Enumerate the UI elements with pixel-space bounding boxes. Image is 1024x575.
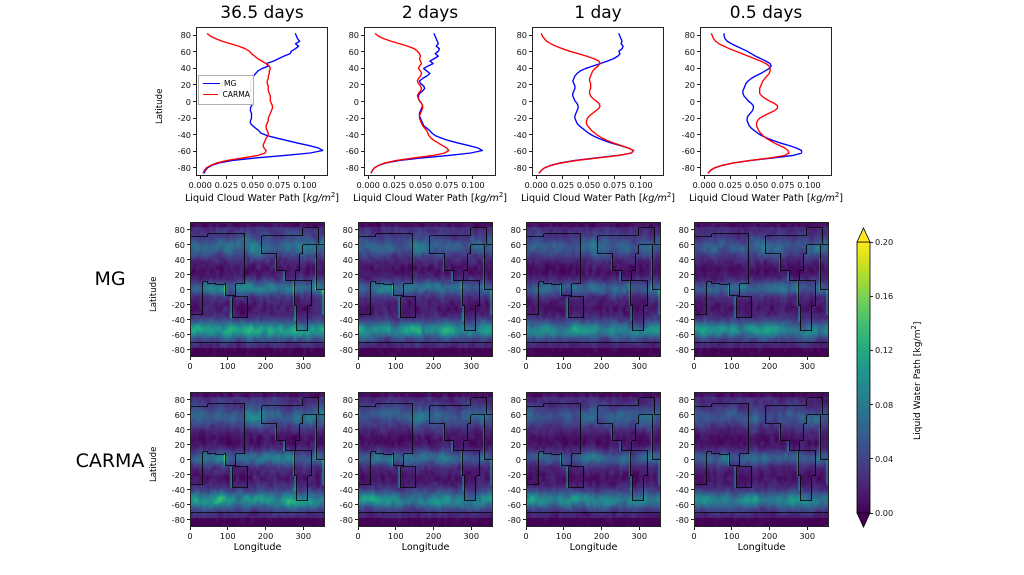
map-ytick-1-1-3 [355, 444, 358, 445]
map-xtick-label-1-2-3: 300 [625, 531, 653, 541]
map-ytick-1-0-0 [187, 399, 190, 400]
colorbar-tick-label-4: 0.16 [875, 291, 905, 301]
map-ytick-label-1-3-1: 60 [667, 410, 689, 420]
map-ytick-label-0-3-3: 20 [667, 270, 689, 280]
column-title-1: 2 days [364, 3, 496, 23]
colorbar-extend-max-arrow [857, 228, 870, 242]
line-ytick-label-3-6: -40 [673, 130, 695, 140]
colorbar-tick-3 [870, 350, 873, 351]
map-yaxis-label-0: Latitude [149, 276, 159, 311]
colorbar-gradient [856, 228, 871, 529]
line-ytick-2-7 [529, 151, 532, 152]
map-ytick-1-3-1 [691, 414, 694, 415]
line-plot-legend[interactable]: MGCARMA [198, 75, 254, 105]
map-xtick-label-0-2-3: 300 [625, 361, 653, 371]
map-ytick-label-0-3-1: 60 [667, 240, 689, 250]
map-ytick-1-1-0 [355, 399, 358, 400]
map-xtick-label-1-0-1: 100 [214, 531, 242, 541]
map-ytick-1-3-2 [691, 429, 694, 430]
colorbar-bar[interactable] [857, 242, 870, 513]
map-ytick-label-1-0-5: -20 [163, 470, 185, 480]
line-ytick-1-0 [361, 35, 364, 36]
colorbar-tick-2 [870, 404, 873, 405]
map-ytick-label-0-1-5: -20 [331, 300, 353, 310]
map-ytick-label-0-2-4: 0 [499, 285, 521, 295]
map-ytick-0-3-8 [691, 349, 694, 350]
map-xtick-label-1-2-2: 200 [588, 531, 616, 541]
line-ytick-0-4 [193, 101, 196, 102]
map-ytick-1-3-3 [691, 444, 694, 445]
map-xtick-0-1-2 [433, 357, 434, 360]
map-ytick-1-2-6 [523, 489, 526, 490]
map-ytick-0-1-6 [355, 319, 358, 320]
map-ytick-label-1-3-2: 40 [667, 425, 689, 435]
map-ytick-0-3-6 [691, 319, 694, 320]
line-xtick-2-2 [588, 176, 589, 179]
colorbar-tick-1 [870, 458, 873, 459]
map-ytick-0-0-4 [187, 289, 190, 290]
line-xaxis-label-1: Liquid Cloud Water Path [kg/m2] [348, 191, 512, 204]
coastline-path [695, 228, 828, 343]
map-xtick-0-3-0 [694, 357, 695, 360]
map-xtick-label-0-1-3: 300 [457, 361, 485, 371]
line-ytick-label-1-5: -20 [337, 113, 359, 123]
line-ytick-1-5 [361, 118, 364, 119]
map-ytick-1-0-4 [187, 459, 190, 460]
map-ytick-label-0-0-4: 0 [163, 285, 185, 295]
legend-entry-mg: MG [201, 78, 250, 89]
line-xtick-label-3-4: 0.100 [793, 180, 825, 190]
map-ytick-0-0-0 [187, 229, 190, 230]
coastline-path [527, 228, 660, 343]
map-ytick-0-1-3 [355, 274, 358, 275]
map-ytick-label-1-3-4: 0 [667, 455, 689, 465]
map-ytick-1-0-6 [187, 489, 190, 490]
map-xtick-0-2-3 [639, 357, 640, 360]
map-ytick-label-1-2-0: 80 [499, 395, 521, 405]
line-plot-panel-2[interactable] [532, 27, 664, 176]
map-panel-mg-col1[interactable] [358, 222, 493, 357]
line-ytick-3-8 [697, 167, 700, 168]
map-xtick-label-0-1-1: 100 [382, 361, 410, 371]
map-panel-carma-col0[interactable] [190, 392, 325, 527]
map-panel-carma-col1[interactable] [358, 392, 493, 527]
map-ytick-1-1-5 [355, 474, 358, 475]
map-xtick-1-1-1 [395, 527, 396, 530]
map-ytick-0-0-5 [187, 304, 190, 305]
map-ytick-label-0-3-8: -80 [667, 345, 689, 355]
map-ytick-label-1-1-6: -40 [331, 485, 353, 495]
line-ytick-3-3 [697, 84, 700, 85]
map-ytick-1-2-7 [523, 504, 526, 505]
map-yaxis-label-1: Latitude [149, 446, 159, 481]
line-ytick-label-0-1: 60 [169, 47, 191, 57]
line-xtick-3-1 [730, 176, 731, 179]
map-xtick-label-0-3-2: 200 [756, 361, 784, 371]
map-ytick-label-0-2-7: -60 [499, 330, 521, 340]
map-xtick-label-0-0-2: 200 [252, 361, 280, 371]
map-ytick-1-0-8 [187, 519, 190, 520]
map-xtick-1-1-3 [471, 527, 472, 530]
map-xtick-label-0-1-2: 200 [420, 361, 448, 371]
map-ytick-0-3-4 [691, 289, 694, 290]
line-ytick-label-0-8: -80 [169, 163, 191, 173]
line-ytick-0-3 [193, 84, 196, 85]
line-ytick-0-0 [193, 35, 196, 36]
legend-label-carma: CARMA [222, 90, 250, 99]
map-ytick-label-1-2-2: 40 [499, 425, 521, 435]
line-xtick-2-4 [640, 176, 641, 179]
map-ytick-label-1-1-0: 80 [331, 395, 353, 405]
map-ytick-label-1-2-8: -80 [499, 515, 521, 525]
map-ytick-1-1-4 [355, 459, 358, 460]
line-ytick-label-1-1: 60 [337, 47, 359, 57]
line-ytick-label-3-3: 20 [673, 80, 695, 90]
map-ytick-label-0-2-5: -20 [499, 300, 521, 310]
map-ytick-0-1-2 [355, 259, 358, 260]
map-ytick-label-1-0-6: -40 [163, 485, 185, 495]
map-ytick-label-1-3-0: 80 [667, 395, 689, 405]
colorbar-tick-label-2: 0.08 [875, 400, 905, 410]
line-xtick-1-4 [472, 176, 473, 179]
line-ytick-label-1-0: 80 [337, 30, 359, 40]
map-ytick-1-3-6 [691, 489, 694, 490]
map-ytick-1-2-2 [523, 429, 526, 430]
line-ytick-0-2 [193, 68, 196, 69]
map-ytick-0-3-2 [691, 259, 694, 260]
map-xtick-0-3-3 [807, 357, 808, 360]
line-ytick-0-5 [193, 118, 196, 119]
map-ytick-0-2-1 [523, 244, 526, 245]
map-xtick-label-0-3-0: 0 [680, 361, 708, 371]
map-ytick-0-3-5 [691, 304, 694, 305]
map-xtick-1-3-1 [731, 527, 732, 530]
map-ytick-label-1-2-6: -40 [499, 485, 521, 495]
map-xtick-label-1-2-0: 0 [512, 531, 540, 541]
map-ytick-label-1-2-7: -60 [499, 500, 521, 510]
map-ytick-0-3-0 [691, 229, 694, 230]
map-ytick-label-0-2-2: 40 [499, 255, 521, 265]
map-ytick-0-1-8 [355, 349, 358, 350]
line-xtick-0-3 [278, 176, 279, 179]
map-ytick-label-0-2-0: 80 [499, 225, 521, 235]
line-ytick-1-3 [361, 84, 364, 85]
map-ytick-0-2-7 [523, 334, 526, 335]
colorbar-tick-5 [870, 242, 873, 243]
map-xtick-1-1-2 [433, 527, 434, 530]
map-ytick-1-2-4 [523, 459, 526, 460]
line-xtick-1-2 [420, 176, 421, 179]
colorbar-tick-0 [870, 513, 873, 514]
map-panel-mg-col0[interactable] [190, 222, 325, 357]
map-xtick-1-2-3 [639, 527, 640, 530]
map-xtick-label-1-2-1: 100 [550, 531, 578, 541]
map-ytick-1-2-8 [523, 519, 526, 520]
line-ytick-1-1 [361, 51, 364, 52]
line-ytick-label-0-2: 40 [169, 63, 191, 73]
line-xtick-0-1 [226, 176, 227, 179]
map-panel-carma-col3[interactable] [694, 392, 829, 527]
line-ytick-3-5 [697, 118, 700, 119]
map-ytick-label-0-0-1: 60 [163, 240, 185, 250]
line-ytick-2-0 [529, 35, 532, 36]
map-ytick-0-0-2 [187, 259, 190, 260]
line-plot-panel-3[interactable] [700, 27, 832, 176]
map-ytick-label-0-1-4: 0 [331, 285, 353, 295]
legend-label-mg: MG [224, 79, 236, 88]
map-ytick-1-3-0 [691, 399, 694, 400]
line-series-mg-1 [371, 34, 482, 173]
map-ytick-0-1-0 [355, 229, 358, 230]
line-xtick-2-0 [536, 176, 537, 179]
map-xaxis-label-2: Longitude [526, 542, 661, 553]
map-ytick-0-3-7 [691, 334, 694, 335]
map-ytick-label-0-1-8: -80 [331, 345, 353, 355]
map-ytick-1-3-7 [691, 504, 694, 505]
map-xtick-0-0-3 [303, 357, 304, 360]
line-xtick-2-1 [562, 176, 563, 179]
line-ytick-0-7 [193, 151, 196, 152]
map-xtick-label-1-3-0: 0 [680, 531, 708, 541]
column-title-0: 36.5 days [196, 3, 328, 23]
line-ytick-1-2 [361, 68, 364, 69]
colorbar-extend-min-arrow [857, 513, 870, 527]
line-ytick-label-0-0: 80 [169, 30, 191, 40]
map-ytick-1-0-1 [187, 414, 190, 415]
map-ytick-label-0-2-8: -80 [499, 345, 521, 355]
map-xtick-label-0-1-0: 0 [344, 361, 372, 371]
map-ytick-label-1-1-4: 0 [331, 455, 353, 465]
map-ytick-0-0-3 [187, 274, 190, 275]
line-series-mg-3 [708, 34, 801, 173]
map-xtick-label-1-1-2: 200 [420, 531, 448, 541]
map-panel-carma-col2[interactable] [526, 392, 661, 527]
map-ytick-label-0-0-8: -80 [163, 345, 185, 355]
map-ytick-1-1-8 [355, 519, 358, 520]
map-ytick-label-1-0-1: 60 [163, 410, 185, 420]
line-plot-curves-3 [701, 28, 833, 177]
map-ytick-0-3-1 [691, 244, 694, 245]
line-ytick-3-2 [697, 68, 700, 69]
line-ytick-label-2-6: -40 [505, 130, 527, 140]
map-ytick-0-0-8 [187, 349, 190, 350]
map-ytick-label-0-0-5: -20 [163, 300, 185, 310]
map-coastlines-carma-col0 [191, 393, 324, 526]
map-coastlines-mg-col0 [191, 223, 324, 356]
map-xtick-0-2-2 [601, 357, 602, 360]
line-ytick-label-1-2: 40 [337, 63, 359, 73]
map-ytick-label-1-0-8: -80 [163, 515, 185, 525]
map-ytick-0-2-8 [523, 349, 526, 350]
map-xtick-label-1-1-0: 0 [344, 531, 372, 541]
map-ytick-0-2-0 [523, 229, 526, 230]
line-xtick-0-0 [200, 176, 201, 179]
map-xtick-label-0-0-3: 300 [289, 361, 317, 371]
line-xtick-3-4 [808, 176, 809, 179]
line-ytick-label-2-5: -20 [505, 113, 527, 123]
map-ytick-1-1-2 [355, 429, 358, 430]
map-xtick-label-1-3-3: 300 [793, 531, 821, 541]
map-ytick-0-0-6 [187, 319, 190, 320]
line-ytick-label-3-2: 40 [673, 63, 695, 73]
column-title-2: 1 day [532, 3, 664, 23]
line-ytick-label-3-5: -20 [673, 113, 695, 123]
line-xtick-0-2 [252, 176, 253, 179]
line-ytick-0-1 [193, 51, 196, 52]
map-ytick-label-1-2-5: -20 [499, 470, 521, 480]
map-ytick-label-1-1-1: 60 [331, 410, 353, 420]
map-ytick-label-1-1-7: -60 [331, 500, 353, 510]
line-yaxis-label: Latitude [155, 88, 165, 123]
map-xtick-label-0-3-1: 100 [718, 361, 746, 371]
map-ytick-label-1-2-4: 0 [499, 455, 521, 465]
line-ytick-3-1 [697, 51, 700, 52]
legend-swatch-mg [203, 83, 220, 84]
line-ytick-label-2-0: 80 [505, 30, 527, 40]
line-ytick-label-2-4: 0 [505, 97, 527, 107]
line-ytick-2-2 [529, 68, 532, 69]
map-ytick-label-1-1-8: -80 [331, 515, 353, 525]
map-ytick-1-0-5 [187, 474, 190, 475]
line-xaxis-label-2: Liquid Cloud Water Path [kg/m2] [516, 191, 680, 204]
map-ytick-label-0-2-1: 60 [499, 240, 521, 250]
line-ytick-label-0-5: -20 [169, 113, 191, 123]
map-xtick-label-1-3-2: 200 [756, 531, 784, 541]
line-ytick-3-4 [697, 101, 700, 102]
coastline-path [359, 398, 492, 513]
line-ytick-2-5 [529, 118, 532, 119]
map-xtick-0-3-1 [731, 357, 732, 360]
map-ytick-label-0-0-0: 80 [163, 225, 185, 235]
map-xtick-label-1-1-3: 300 [457, 531, 485, 541]
row-label-mg: MG [60, 268, 160, 290]
line-ytick-label-1-8: -80 [337, 163, 359, 173]
coastline-path [359, 228, 492, 343]
map-ytick-1-3-5 [691, 474, 694, 475]
map-xtick-1-1-0 [358, 527, 359, 530]
map-ytick-label-0-3-6: -40 [667, 315, 689, 325]
legend-swatch-carma [203, 94, 218, 95]
line-ytick-label-3-7: -60 [673, 146, 695, 156]
line-ytick-3-6 [697, 134, 700, 135]
line-series-mg-2 [539, 34, 633, 173]
line-xtick-2-3 [614, 176, 615, 179]
map-ytick-label-0-3-4: 0 [667, 285, 689, 295]
map-ytick-label-1-3-8: -80 [667, 515, 689, 525]
map-ytick-label-1-0-7: -60 [163, 500, 185, 510]
map-xtick-1-2-1 [563, 527, 564, 530]
map-ytick-label-1-3-3: 20 [667, 440, 689, 450]
map-ytick-label-0-3-5: -20 [667, 300, 689, 310]
line-ytick-1-6 [361, 134, 364, 135]
map-ytick-1-3-4 [691, 459, 694, 460]
line-xtick-1-1 [394, 176, 395, 179]
line-series-carma-3 [708, 34, 789, 173]
map-ytick-label-1-0-3: 20 [163, 440, 185, 450]
map-xtick-0-1-1 [395, 357, 396, 360]
colorbar-tick-label-3: 0.12 [875, 345, 905, 355]
map-coastlines-carma-col2 [527, 393, 660, 526]
map-ytick-0-1-5 [355, 304, 358, 305]
line-ytick-label-2-2: 40 [505, 63, 527, 73]
coastline-path [527, 398, 660, 513]
map-coastlines-mg-col1 [359, 223, 492, 356]
map-xtick-label-1-3-1: 100 [718, 531, 746, 541]
map-ytick-0-2-3 [523, 274, 526, 275]
coastline-path [191, 228, 324, 343]
line-ytick-label-2-3: 20 [505, 80, 527, 90]
map-ytick-label-1-3-7: -60 [667, 500, 689, 510]
map-xaxis-label-1: Longitude [358, 542, 493, 553]
map-xtick-1-0-0 [190, 527, 191, 530]
map-ytick-label-0-1-2: 40 [331, 255, 353, 265]
map-ytick-0-3-3 [691, 274, 694, 275]
map-xtick-1-0-1 [227, 527, 228, 530]
line-ytick-label-2-7: -60 [505, 146, 527, 156]
map-xtick-1-3-3 [807, 527, 808, 530]
map-xaxis-label-0: Longitude [190, 542, 325, 553]
map-xtick-1-2-0 [526, 527, 527, 530]
map-xaxis-label-3: Longitude [694, 542, 829, 553]
legend-entry-carma: CARMA [201, 89, 250, 100]
line-ytick-2-1 [529, 51, 532, 52]
map-ytick-0-1-7 [355, 334, 358, 335]
line-ytick-2-3 [529, 84, 532, 85]
map-ytick-0-2-6 [523, 319, 526, 320]
map-ytick-label-1-2-3: 20 [499, 440, 521, 450]
map-xtick-0-0-2 [265, 357, 266, 360]
map-xtick-1-3-0 [694, 527, 695, 530]
map-ytick-label-0-3-7: -60 [667, 330, 689, 340]
map-coastlines-mg-col2 [527, 223, 660, 356]
line-ytick-2-8 [529, 167, 532, 168]
map-xtick-1-0-3 [303, 527, 304, 530]
map-xtick-label-0-2-1: 100 [550, 361, 578, 371]
map-ytick-1-2-0 [523, 399, 526, 400]
colorbar-tick-label-5: 0.20 [875, 237, 905, 247]
map-xtick-label-0-2-2: 200 [588, 361, 616, 371]
line-ytick-label-3-4: 0 [673, 97, 695, 107]
colorbar-tick-label-0: 0.00 [875, 508, 905, 518]
colorbar-tick-4 [870, 296, 873, 297]
line-ytick-label-3-0: 80 [673, 30, 695, 40]
map-ytick-label-0-1-6: -40 [331, 315, 353, 325]
map-ytick-0-2-2 [523, 259, 526, 260]
map-ytick-label-1-0-2: 40 [163, 425, 185, 435]
map-ytick-label-0-0-7: -60 [163, 330, 185, 340]
line-ytick-label-0-3: 20 [169, 80, 191, 90]
line-plot-curves-2 [533, 28, 665, 177]
column-title-3: 0.5 days [700, 3, 832, 23]
map-xtick-label-1-0-2: 200 [252, 531, 280, 541]
line-xtick-label-1-4: 0.100 [457, 180, 489, 190]
line-ytick-label-0-6: -40 [169, 130, 191, 140]
line-ytick-label-1-4: 0 [337, 97, 359, 107]
map-ytick-0-1-4 [355, 289, 358, 290]
line-xtick-label-0-4: 0.100 [289, 180, 321, 190]
line-xaxis-label-0: Liquid Cloud Water Path [kg/m2] [180, 191, 344, 204]
map-xtick-label-0-0-0: 0 [176, 361, 204, 371]
line-plot-panel-1[interactable] [364, 27, 496, 176]
map-ytick-label-1-1-2: 40 [331, 425, 353, 435]
map-panel-mg-col2[interactable] [526, 222, 661, 357]
line-ytick-label-1-3: 20 [337, 80, 359, 90]
map-panel-mg-col3[interactable] [694, 222, 829, 357]
map-ytick-label-1-1-3: 20 [331, 440, 353, 450]
map-xtick-label-0-3-3: 300 [793, 361, 821, 371]
map-ytick-1-1-7 [355, 504, 358, 505]
line-xtick-1-3 [446, 176, 447, 179]
